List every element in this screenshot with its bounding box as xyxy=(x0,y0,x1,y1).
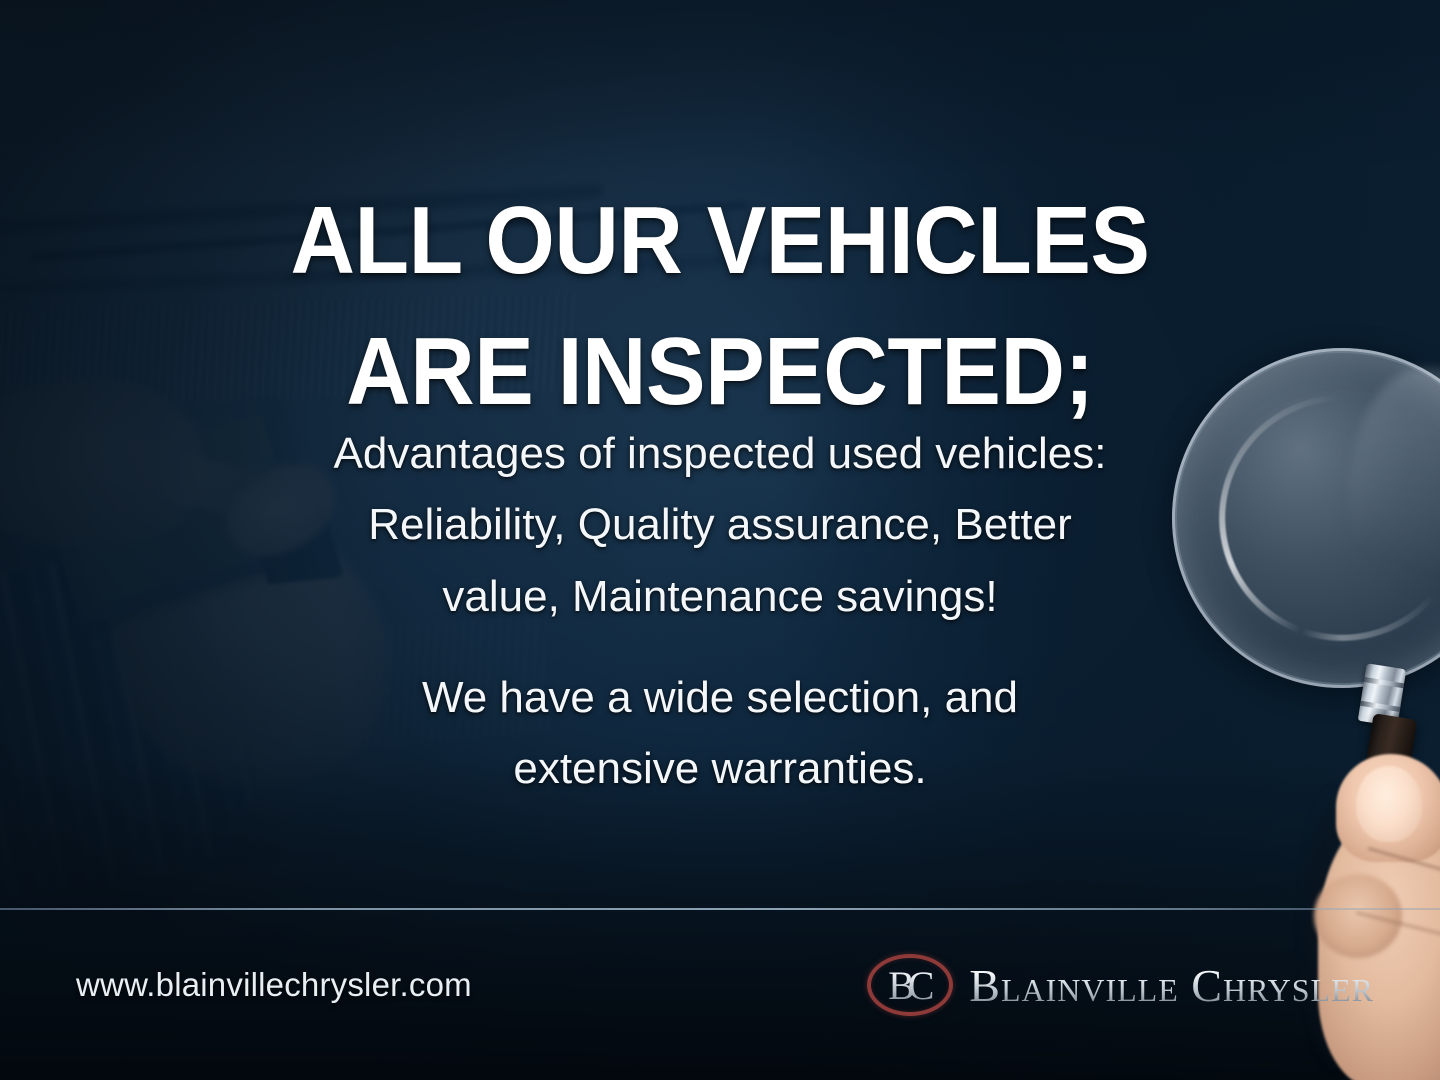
advantages-text: Advantages of inspected used vehicles: R… xyxy=(270,418,1170,632)
slide-content: ALL OUR VEHICLES ARE INSPECTED; Advantag… xyxy=(0,0,1440,1080)
advantages-block: Advantages of inspected used vehicles: R… xyxy=(270,418,1170,632)
footer-divider xyxy=(0,908,1440,910)
selection-block: We have a wide selection, and extensive … xyxy=(340,662,1100,805)
selection-text: We have a wide selection, and extensive … xyxy=(340,662,1100,805)
bc-monogram-icon: BC xyxy=(867,954,953,1016)
promo-slide: ALL OUR VEHICLES ARE INSPECTED; Advantag… xyxy=(0,0,1440,1080)
page-title: ALL OUR VEHICLES ARE INSPECTED; xyxy=(50,176,1389,437)
website-url[interactable]: www.blainvillechrysler.com xyxy=(76,966,472,1004)
brand-name: Blainville Chrysler xyxy=(969,959,1374,1012)
brand-logo[interactable]: BC Blainville Chrysler xyxy=(867,954,1374,1016)
monogram-letters: BC xyxy=(867,954,953,1016)
